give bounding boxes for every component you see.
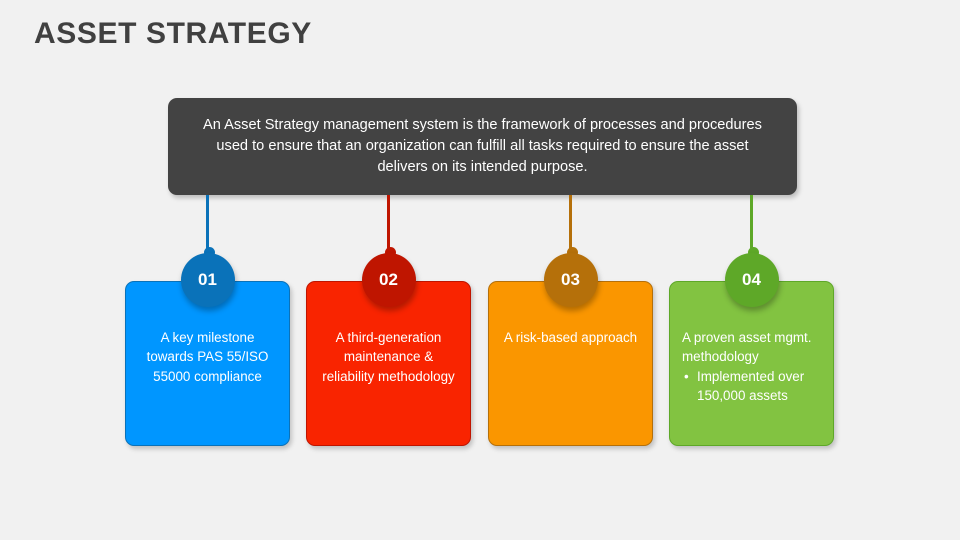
page-title: ASSET STRATEGY (34, 17, 312, 51)
card-text-03: A risk-based approach (489, 328, 652, 347)
card-heading-02: A third-generation maintenance & reliabi… (319, 328, 458, 386)
card-badge-03[interactable]: 03 (544, 253, 598, 307)
callout-text: An Asset Strategy management system is t… (190, 115, 775, 178)
card-heading-04: A proven asset mgmt. methodology (682, 328, 827, 367)
callout-box: An Asset Strategy management system is t… (168, 98, 797, 195)
card-text-02: A third-generation maintenance & reliabi… (307, 328, 470, 386)
card-bullet-list-04: Implemented over 150,000 assets (682, 367, 827, 406)
connector-line-02 (387, 195, 390, 253)
card-heading-01: A key milestone towards PAS 55/ISO 55000… (138, 328, 277, 386)
card-badge-04[interactable]: 04 (725, 253, 779, 307)
card-bullet-item: Implemented over 150,000 assets (682, 367, 827, 406)
connector-line-04 (750, 195, 753, 253)
connector-line-01 (206, 195, 209, 253)
card-badge-02[interactable]: 02 (362, 253, 416, 307)
card-badge-01[interactable]: 01 (181, 253, 235, 307)
card-text-04: A proven asset mgmt. methodologyImplemen… (670, 328, 833, 406)
card-heading-03: A risk-based approach (501, 328, 640, 347)
connector-line-03 (569, 195, 572, 253)
card-text-01: A key milestone towards PAS 55/ISO 55000… (126, 328, 289, 386)
slide-canvas: ASSET STRATEGY An Asset Strategy managem… (0, 0, 960, 540)
